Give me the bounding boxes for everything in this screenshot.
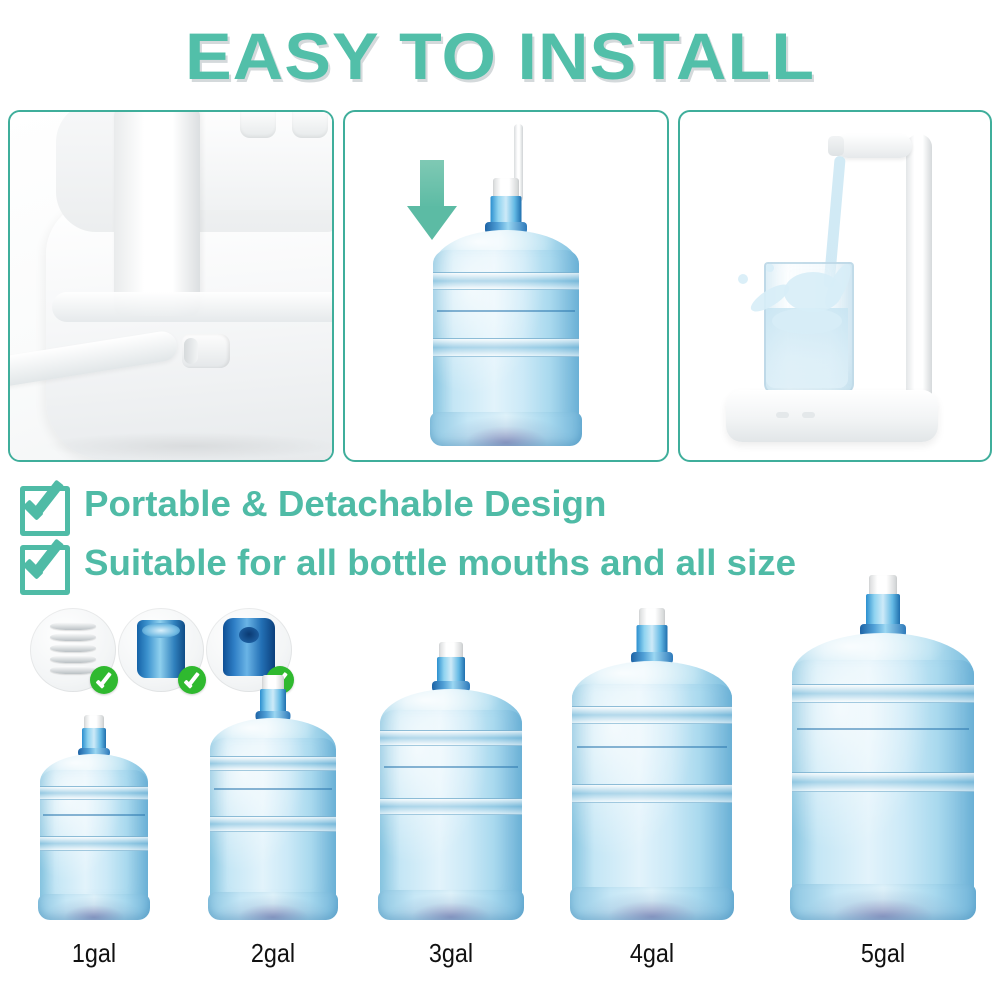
dispenser-vertical-post: [114, 112, 200, 316]
feature-bullet-label: Portable & Detachable Design: [84, 483, 606, 525]
bottle-size-4gal: [570, 608, 734, 920]
dispenser-base-tray: [726, 390, 938, 442]
splash-drop: [766, 264, 774, 272]
splash-drop: [738, 274, 748, 284]
checkbox-check-icon: [16, 478, 72, 530]
infographic-page: EASY TO INSTALL: [0, 0, 1000, 1000]
green-check-icon: [178, 666, 206, 694]
bottle-size-1gal: [38, 715, 150, 920]
dispenser-post: [906, 134, 932, 402]
bottle-mouth-thumb-open-blue: [118, 608, 204, 692]
feature-bullet-label: Suitable for all bottle mouths and all s…: [84, 542, 796, 584]
panel-2-image: [345, 112, 667, 460]
bottle-size-label: 3gal: [385, 938, 516, 969]
bottle-size-label: 2gal: [215, 938, 332, 969]
dispenser-tube-port-opening: [184, 338, 198, 364]
panel-dispensing-into-glass: [678, 110, 992, 462]
panel-1-image: [10, 112, 332, 460]
dispenser-base-lip: [52, 292, 332, 322]
dispenser-button-left: [240, 112, 276, 138]
dispenser-nozzle: [828, 136, 844, 156]
feature-bullet-compatibility: Suitable for all bottle mouths and all s…: [16, 537, 782, 589]
panel-bottle-insert-step: [343, 110, 669, 462]
panel-3-image: [680, 112, 990, 460]
bottle-size-label: 4gal: [578, 938, 726, 969]
dispenser-spout-arm: [836, 134, 912, 158]
feature-bullet-portable: Portable & Detachable Design: [16, 478, 596, 530]
dispenser-indicator-left: [776, 412, 789, 418]
bottle-mouth-thumb-threaded: [30, 608, 116, 692]
bottle-size-label: 1gal: [44, 938, 145, 969]
splash-drop: [784, 272, 842, 312]
dispenser-indicator-right: [802, 412, 815, 418]
bottle-size-2gal: [208, 675, 338, 920]
dispenser-button-right: [292, 112, 328, 138]
capped-blue-mouth-icon: [223, 618, 275, 676]
panel-1-shadow: [40, 432, 332, 460]
bottle-size-5gal: [790, 575, 976, 920]
bottle-size-3gal: [378, 642, 524, 920]
splash-drop: [772, 308, 842, 334]
threaded-mouth-icon: [50, 622, 96, 676]
page-title: EASY TO INSTALL: [0, 16, 1000, 96]
panel-dispenser-base-closeup: [8, 110, 334, 462]
bottle-size-label: 5gal: [799, 938, 966, 969]
green-check-icon: [90, 666, 118, 694]
water-bottle-5gal-illustration: [401, 178, 611, 446]
checkbox-check-icon: [16, 537, 72, 589]
open-blue-mouth-icon: [137, 620, 185, 678]
